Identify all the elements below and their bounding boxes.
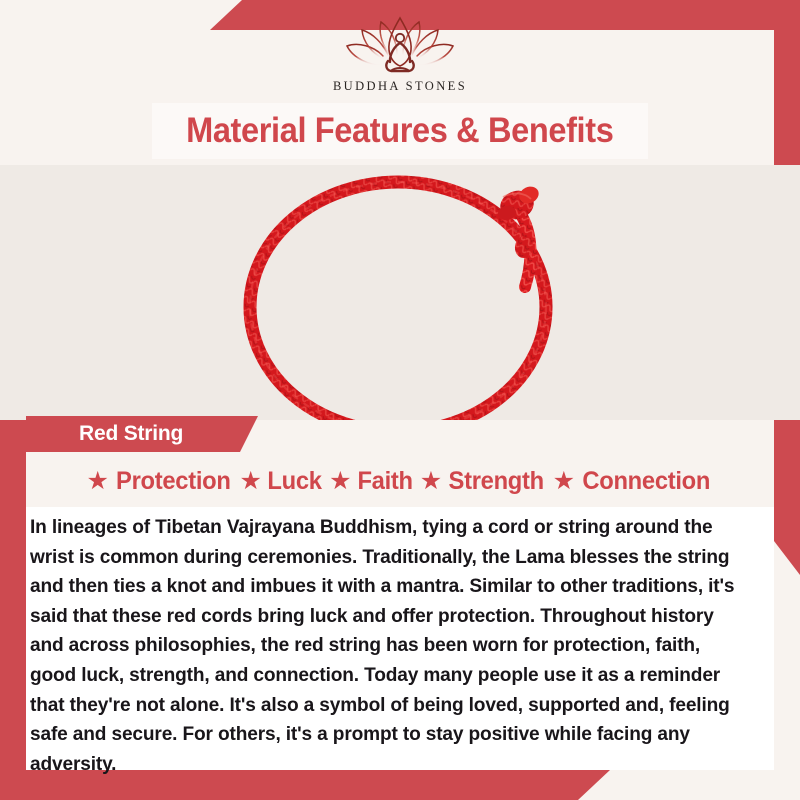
feature-label: Protection — [116, 467, 231, 496]
star-icon: ★ — [420, 469, 442, 494]
star-icon: ★ — [329, 469, 351, 494]
feature-label: Strength — [449, 467, 544, 496]
product-label: Red String — [79, 422, 183, 446]
feature-item-connection: ★ Connection — [553, 467, 714, 496]
feature-item-faith: ★ Faith — [329, 467, 414, 496]
star-icon: ★ — [553, 469, 575, 494]
feature-label: Faith — [357, 467, 412, 496]
description-text: In lineages of Tibetan Vajrayana Buddhis… — [30, 513, 747, 779]
description-panel: In lineages of Tibetan Vajrayana Buddhis… — [26, 507, 774, 770]
feature-item-protection: ★ Protection — [87, 467, 234, 496]
title-banner: Material Features & Benefits — [152, 103, 648, 159]
red-string-bracelet-photo — [0, 165, 800, 420]
feature-label: Luck — [267, 467, 321, 496]
feature-item-luck: ★ Luck — [240, 467, 324, 496]
infographic-page: BUDDHA STONES Material Features & Benefi… — [0, 0, 800, 800]
feature-list: ★ Protection ★ Luck ★ Faith ★ Strength ★… — [26, 455, 774, 507]
star-icon: ★ — [240, 469, 262, 494]
brand-wordmark: BUDDHA STONES — [333, 79, 467, 94]
feature-label: Connection — [582, 467, 710, 496]
lotus-meditation-icon — [325, 14, 475, 78]
page-title: Material Features & Benefits — [186, 111, 613, 151]
star-icon: ★ — [87, 469, 109, 494]
feature-item-strength: ★ Strength — [420, 467, 547, 496]
brand-logo: BUDDHA STONES — [0, 14, 800, 100]
product-label-banner: Red String — [26, 416, 258, 452]
bracelet-illustration — [0, 165, 800, 420]
